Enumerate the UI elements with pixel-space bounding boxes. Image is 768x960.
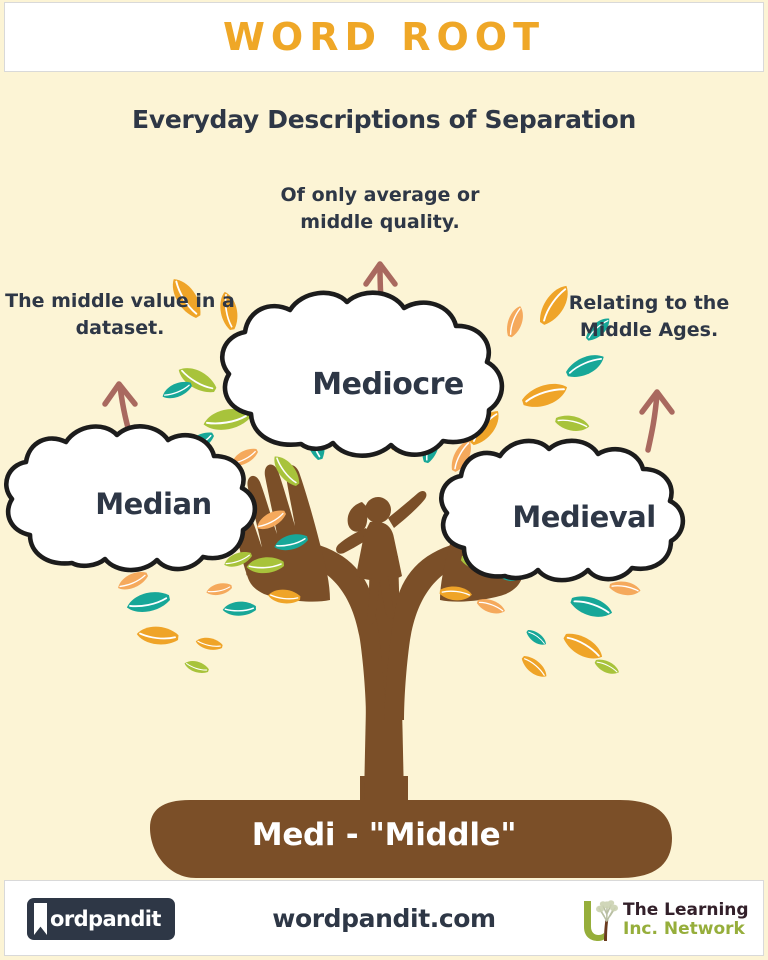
arrow-up-left <box>105 384 135 442</box>
learning-inc-network-logo[interactable]: The Learning Inc. Network <box>577 895 749 945</box>
header-band: WORD ROOT <box>4 2 764 72</box>
partner-logo-text: The Learning Inc. Network <box>623 901 749 939</box>
tree-trunk <box>246 539 524 800</box>
arrow-up-top <box>366 264 395 320</box>
callout-median-description: The middle value in a dataset. <box>3 288 237 342</box>
wordpandit-logo[interactable]: ordpandit <box>27 898 175 940</box>
jumping-girl-silhouette <box>336 491 426 625</box>
partner-line-2: Inc. Network <box>623 920 749 939</box>
subtitle: Everyday Descriptions of Separation <box>0 105 768 134</box>
callout-mediocre-description: Of only average or middle quality. <box>249 182 511 236</box>
partner-line-1: The Learning <box>623 901 749 920</box>
root-word-label: Medi - "Middle" <box>0 817 768 853</box>
cloud-label-mediocre: Mediocre <box>245 367 531 402</box>
cloud-label-median: Median <box>27 487 280 521</box>
cloud-label-medieval: Medieval <box>460 500 708 534</box>
arrow-up-right <box>642 392 672 450</box>
infographic-page: WORD ROOT Everyday Descriptions of Separ… <box>0 0 768 960</box>
left-hand-branch <box>234 465 330 602</box>
wordpandit-logo-text: ordpandit <box>50 907 161 931</box>
callout-medieval-description: Relating to the Middle Ages. <box>533 290 765 344</box>
bookmark-icon <box>27 898 53 940</box>
tree-u-icon <box>577 897 619 943</box>
page-title: WORD ROOT <box>223 15 545 59</box>
footer-band: wordpandit.com ordpandit <box>4 880 764 956</box>
tree-illustration <box>0 0 768 960</box>
